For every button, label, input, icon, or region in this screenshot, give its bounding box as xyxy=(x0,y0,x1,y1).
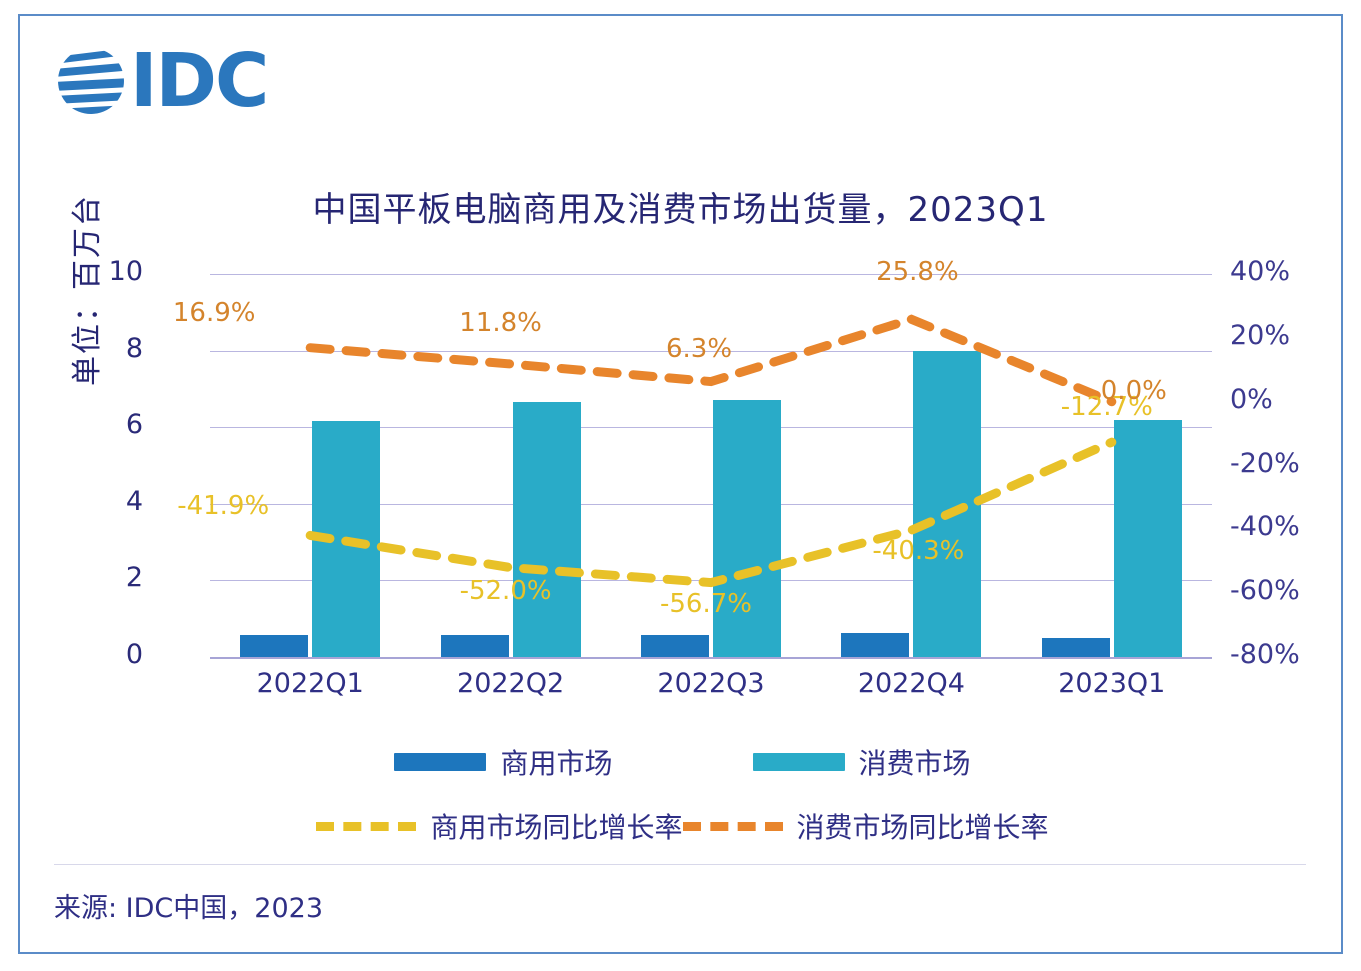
data-label: 11.8% xyxy=(456,308,546,338)
legend-swatch-commercial xyxy=(394,753,486,771)
y-axis-tick-right: 0% xyxy=(1230,384,1343,415)
data-label: -52.0% xyxy=(460,576,550,606)
y-axis-tick-right: -40% xyxy=(1230,511,1343,542)
legend-label-commercial-growth: 商用市场同比增长率 xyxy=(430,806,682,846)
source-note: 来源: IDC中国，2023 xyxy=(54,886,323,925)
data-label: -56.7% xyxy=(660,589,750,619)
y-axis-tick-left: 4 xyxy=(83,486,143,517)
data-label: 0.0% xyxy=(1089,376,1179,406)
legend-label-commercial: 商用市场 xyxy=(500,742,612,782)
y-axis-tick-left: 8 xyxy=(83,333,143,364)
y-axis-tick-left: 6 xyxy=(83,409,143,440)
data-label: 16.9% xyxy=(169,298,259,328)
legend-label-consumer: 消费市场 xyxy=(859,742,971,782)
x-axis-tick: 2023Q1 xyxy=(1022,668,1202,699)
x-axis-tick: 2022Q2 xyxy=(421,668,601,699)
y-axis-tick-right: -80% xyxy=(1230,639,1343,670)
x-axis-tick: 2022Q1 xyxy=(220,668,400,699)
legend-label-consumer-growth: 消费市场同比增长率 xyxy=(797,806,1049,846)
y-axis-tick-left: 2 xyxy=(83,562,143,593)
y-axis-tick-left: 0 xyxy=(83,639,143,670)
legend-dash-commercial-growth xyxy=(316,822,416,831)
y-axis-tick-right: -20% xyxy=(1230,448,1343,479)
legend-row-lines: 商用市场同比增长率 消费市场同比增长率 xyxy=(20,806,1343,846)
footer-divider xyxy=(54,864,1306,865)
data-label: 25.8% xyxy=(872,257,962,287)
legend-dash-consumer-growth xyxy=(683,822,783,831)
legend-item-commercial-bar[interactable]: 商用市场 xyxy=(394,742,612,782)
legend-swatch-consumer xyxy=(753,753,845,771)
gridline xyxy=(210,657,1212,659)
legend-item-commercial-growth[interactable]: 商用市场同比增长率 xyxy=(316,806,682,846)
line-right-series xyxy=(310,442,1112,582)
y-axis-tick-right: -60% xyxy=(1230,575,1343,606)
chart-card: IDC 中国平板电脑商用及消费市场出货量，2023Q1 单位：百万台 02468… xyxy=(18,14,1343,954)
legend-item-consumer-bar[interactable]: 消费市场 xyxy=(753,742,971,782)
legend-item-consumer-growth[interactable]: 消费市场同比增长率 xyxy=(683,806,1049,846)
x-axis-tick: 2022Q4 xyxy=(821,668,1001,699)
y-axis-tick-left: 10 xyxy=(83,256,143,287)
chart-legend: 商用市场 消费市场 商用市场同比增长率 消费市场同比增长率 xyxy=(20,742,1343,846)
y-axis-tick-right: 40% xyxy=(1230,256,1343,287)
data-label: -41.9% xyxy=(177,491,267,521)
legend-row-bars: 商用市场 消费市场 xyxy=(20,742,1343,782)
x-axis-tick: 2022Q3 xyxy=(621,668,801,699)
y-axis-tick-right: 20% xyxy=(1230,320,1343,351)
data-label: -40.3% xyxy=(872,536,962,566)
data-label: 6.3% xyxy=(654,334,744,364)
